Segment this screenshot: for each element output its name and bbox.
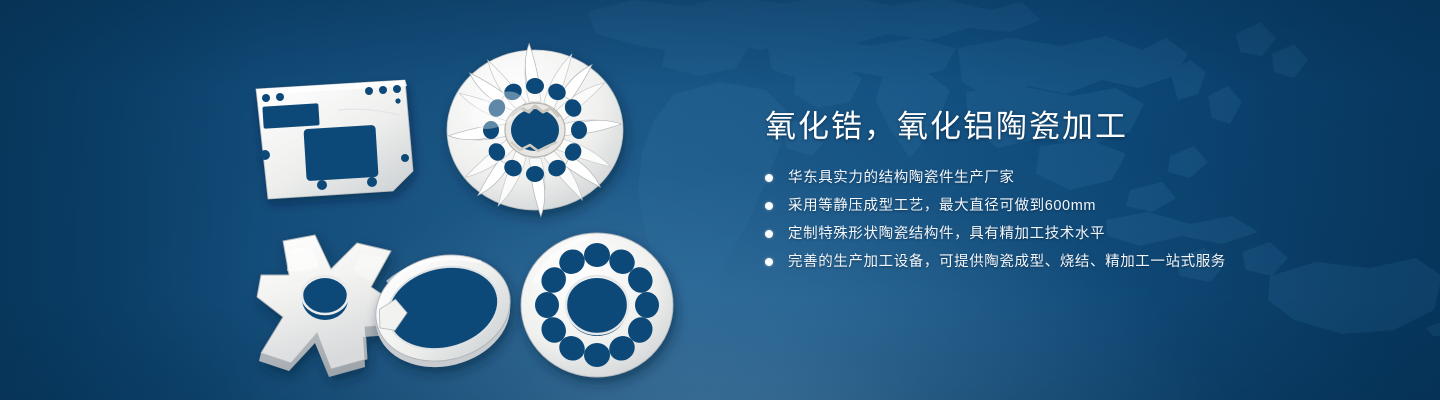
ceramic-perforated-disc bbox=[515, 225, 680, 385]
feature-text: 采用等静压成型工艺，最大直径可做到600mm bbox=[788, 198, 1096, 214]
ceramic-processing-banner: 氧化锆，氧化铝陶瓷加工 华东具实力的结构陶瓷件生产厂家 采用等静压成型工艺，最大… bbox=[0, 0, 1440, 400]
list-item: 完善的生产加工设备，可提供陶瓷成型、烧结、精加工一站式服务 bbox=[765, 253, 1385, 271]
bullet-dot-icon bbox=[765, 174, 773, 182]
list-item: 采用等静压成型工艺，最大直径可做到600mm bbox=[765, 197, 1385, 215]
ceramic-ring bbox=[365, 230, 525, 380]
banner-copy-block: 氧化锆，氧化铝陶瓷加工 华东具实力的结构陶瓷件生产厂家 采用等静压成型工艺，最大… bbox=[765, 108, 1385, 281]
list-item: 华东具实力的结构陶瓷件生产厂家 bbox=[765, 169, 1385, 187]
feature-text: 定制特殊形状陶瓷结构件，具有精加工技术水平 bbox=[788, 226, 1105, 242]
ceramic-machined-plate bbox=[243, 75, 423, 205]
list-item: 定制特殊形状陶瓷结构件，具有精加工技术水平 bbox=[765, 225, 1385, 243]
feature-text: 华东具实力的结构陶瓷件生产厂家 bbox=[788, 170, 1015, 186]
banner-headline: 氧化锆，氧化铝陶瓷加工 bbox=[765, 108, 1385, 147]
bullet-dot-icon bbox=[765, 230, 773, 238]
ceramic-products-photo-group bbox=[225, 30, 695, 380]
feature-text: 完善的生产加工设备，可提供陶瓷成型、烧结、精加工一站式服务 bbox=[788, 254, 1226, 270]
bullet-dot-icon bbox=[765, 202, 773, 210]
banner-feature-list: 华东具实力的结构陶瓷件生产厂家 采用等静压成型工艺，最大直径可做到600mm 定… bbox=[765, 169, 1385, 272]
bullet-dot-icon bbox=[765, 258, 773, 266]
ceramic-vane-impeller bbox=[443, 48, 628, 213]
